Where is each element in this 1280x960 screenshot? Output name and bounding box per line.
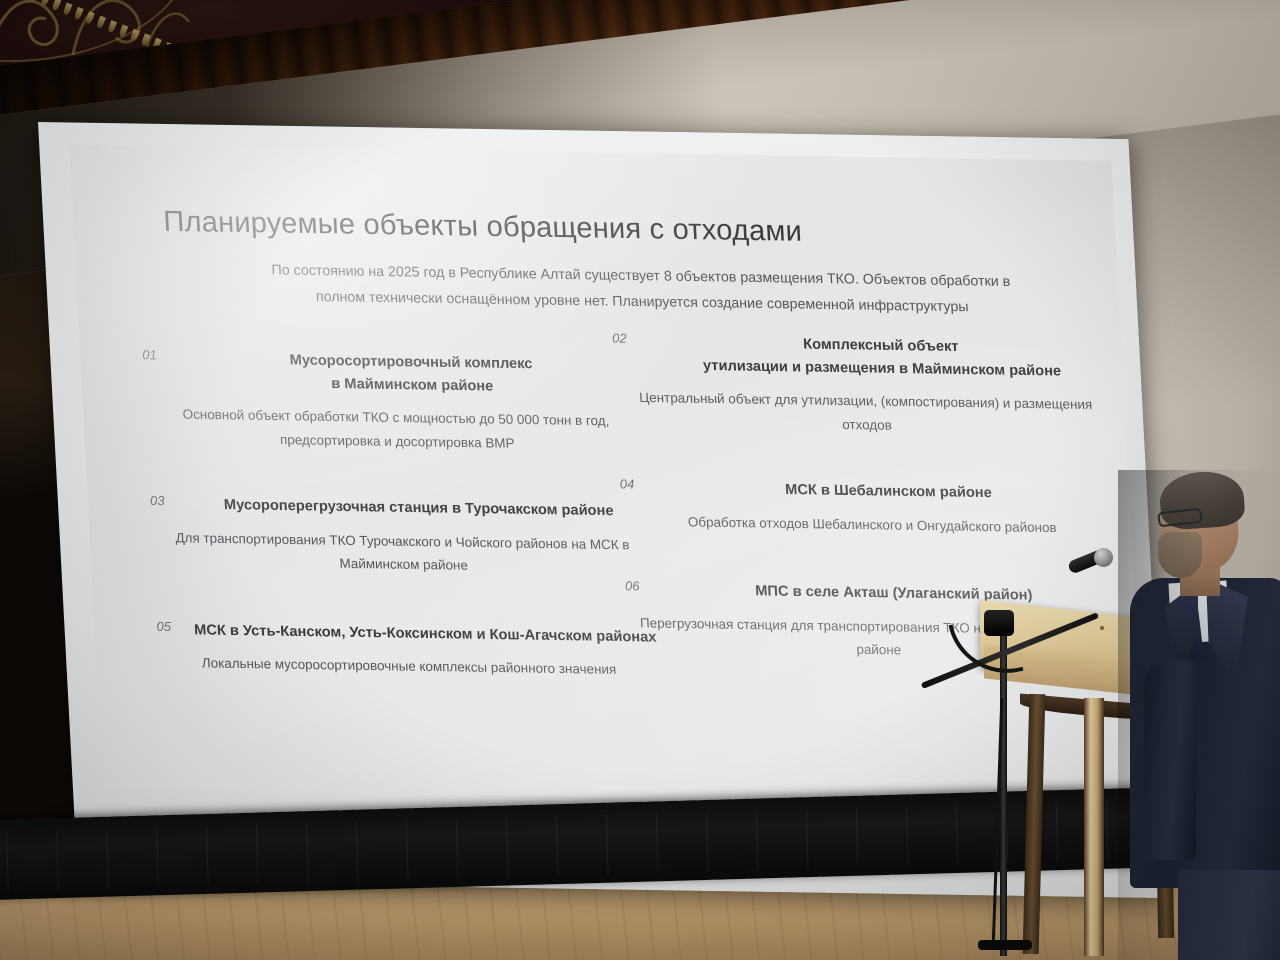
slide-subtitle: По состоянию на 2025 год в Республике Ал… [199,256,1084,322]
slide-item-number: 04 [619,476,634,491]
stage-skirt-fold [106,829,109,889]
slide-item-heading-text: МСК в Усть-Канском, Усть-Коксинском и Ко… [194,622,657,645]
stage-skirt-fold [506,818,509,878]
stage-skirt-fold [156,827,159,887]
auditorium-hall: Планируемые объекты обращения с отходами… [0,0,1280,960]
slide-item-number: 03 [150,493,165,508]
slide-item-heading: Мусоросортировочный комплексв Майминском… [178,348,645,400]
slide-item-description: Основной объект обработки ТКО с мощность… [145,402,649,457]
slide-item-heading: Мусороперегрузочная станция в Турочакско… [186,494,652,524]
stage-skirt-fold [456,819,459,879]
slide-title: Планируемые объекты обращения с отходами [163,206,803,249]
stage-skirt-fold [356,822,359,882]
slide-item-description: Для транспортирования ТКО Турочакского и… [151,526,655,581]
slide-item-heading: Комплексный объектутилизации и размещени… [648,331,1115,383]
stage-skirt-fold [56,830,59,890]
slide-item-heading-text: Комплексный объектутилизации и размещени… [703,337,1062,380]
slide-item-number: 06 [625,578,640,593]
stage-skirt-fold [706,812,709,872]
slide-item-description: Центральный объект для утилизации, (комп… [615,386,1119,441]
slide-item-heading: МСК в Усть-Канском, Усть-Коксинском и Ко… [192,619,658,649]
slide-item-04: 04 МСК в Шебалинском районе Обработка от… [619,476,1123,540]
slide-item-description: Обработка отходов Шебалинского и Онгудай… [621,509,1123,540]
stage-skirt-fold [306,823,309,883]
stage-skirt-fold [256,825,259,885]
slide-item-01: 01 Мусоросортировочный комплексв Майминс… [142,347,648,457]
slide-column-left: 01 Мусоросортировочный комплексв Майминс… [141,323,661,696]
stage-skirt-fold [756,811,759,871]
stage-skirt-fold [556,816,559,876]
mic-stand-base [978,940,1032,950]
stage-skirt-fold [906,806,909,866]
slide-item-number: 01 [142,347,157,362]
presenter-in-navy-suit [1118,470,1280,960]
slide-item-03: 03 Мусороперегрузочная станция в Турочак… [150,493,655,580]
presenter-beard [1158,532,1202,578]
stage-skirt-fold [406,820,409,880]
slide-item-number: 05 [156,618,171,633]
presenter-arm [1144,660,1196,860]
slide-columns: 01 Мусоросортировочный комплексв Майминс… [131,323,1081,338]
slide-item-heading-text: Мусоросортировочный комплексв Майминском… [289,352,533,394]
slide-item-02: 02 Комплексный объектутилизации и размещ… [612,331,1118,441]
stage-skirt-fold [806,809,809,869]
microphone-on-boom-stand [918,548,1118,948]
microphone-capsule-icon [1094,548,1113,567]
presenter-trousers [1178,870,1280,960]
slide-item-heading: МСК в Шебалинском районе [655,477,1121,507]
stage-skirt-fold [206,826,209,886]
slide-item-number: 02 [612,331,627,346]
stage-skirt-fold [656,813,659,873]
stage-skirt-fold [6,831,9,891]
mic-stand-pole [1000,626,1007,956]
stage-skirt-fold [856,808,859,868]
stage-skirt-fold [606,815,609,875]
heading-highlight-band [151,365,302,387]
slide-item-05: 05 МСК в Усть-Канском, Усть-Коксинском и… [156,618,660,682]
slide-item-heading-text: МСК в Шебалинском районе [785,482,992,501]
slide-item-heading-text: Мусороперегрузочная станция в Турочакско… [224,497,614,519]
slide-item-description: Локальные мусоросортировочные комплексы … [158,651,660,682]
